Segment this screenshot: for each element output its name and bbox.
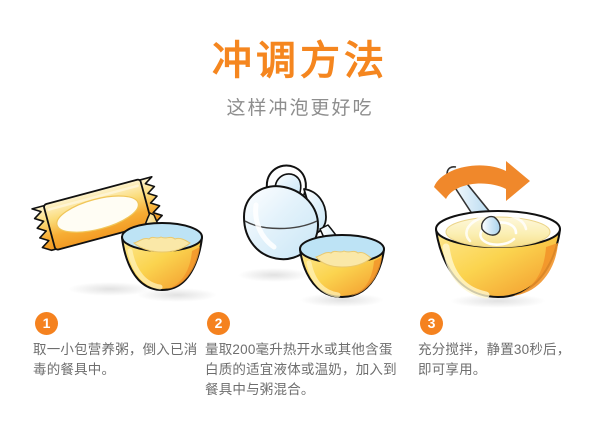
step-description-1: 取一小包营养粥，倒入已消毒的餐具中。: [33, 340, 203, 380]
instruction-page: 冲调方法 这样冲泡更好吃: [0, 0, 600, 432]
sachet-pouring-icon: [22, 155, 212, 310]
step-item-1: 1 取一小包营养粥，倒入已消毒的餐具中。: [33, 312, 203, 380]
step-item-3: 3 充分搅拌，静置30秒后，即可享用。: [418, 312, 578, 380]
illustration-step-2: [232, 155, 412, 310]
steps-list: 1 取一小包营养粥，倒入已消毒的餐具中。 2 量取200毫升热开水或其他含蛋白质…: [0, 312, 600, 432]
page-header: 冲调方法 这样冲泡更好吃: [0, 38, 600, 122]
step-item-2: 2 量取200毫升热开水或其他含蛋白质的适宜液体或温奶，加入到餐具中与粥混合。: [205, 312, 400, 400]
page-subtitle: 这样冲泡更好吃: [0, 96, 600, 122]
step-description-3: 充分搅拌，静置30秒后，即可享用。: [418, 340, 578, 380]
illustration-step-1: [22, 155, 212, 310]
step-number-badge-2: 2: [207, 312, 230, 335]
pitcher-pouring-icon: [232, 155, 412, 310]
step-description-2: 量取200毫升热开水或其他含蛋白质的适宜液体或温奶，加入到餐具中与粥混合。: [205, 340, 400, 400]
page-title: 冲调方法: [0, 38, 600, 84]
illustration-row: [0, 155, 600, 310]
illustration-step-3: [420, 155, 590, 310]
step-number-badge-1: 1: [35, 312, 58, 335]
step-number-badge-3: 3: [420, 312, 443, 335]
stirring-bowl-icon: [420, 155, 590, 310]
